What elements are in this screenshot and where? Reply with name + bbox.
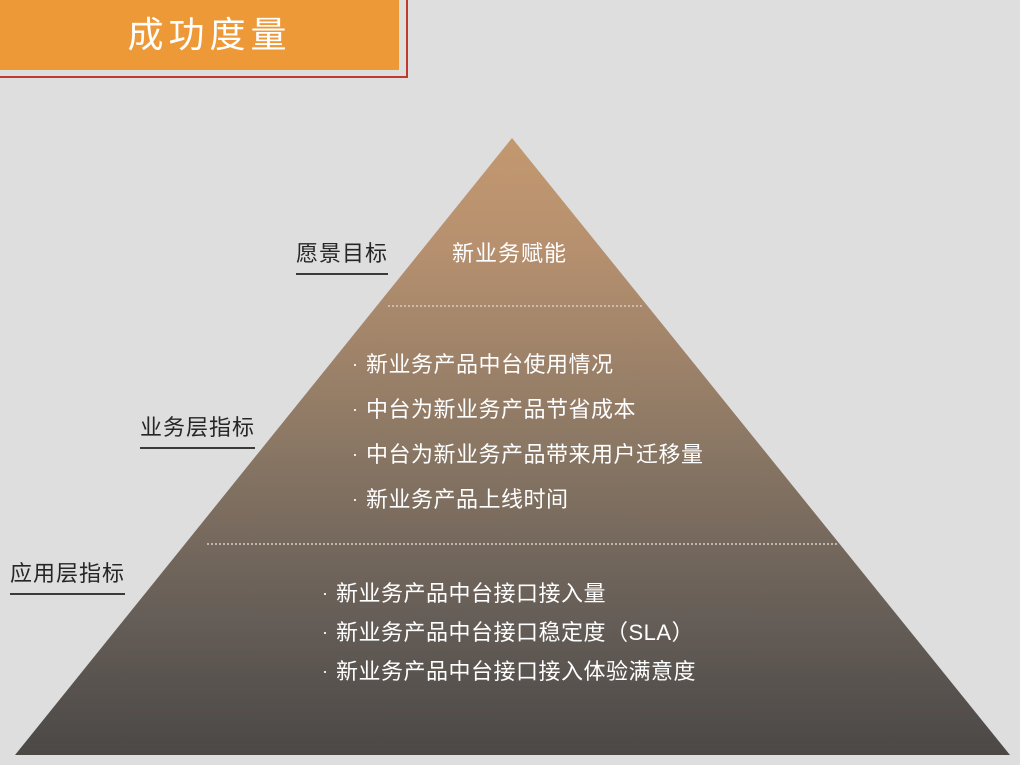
- tier-label-vision: 愿景目标: [296, 236, 388, 275]
- list-item-label: 中台为新业务产品带来用户迁移量: [366, 442, 704, 467]
- list-item-label: 新业务产品中台接口稳定度（SLA）: [336, 620, 694, 645]
- tier-label-application: 应用层指标: [10, 556, 125, 595]
- list-item: ·新业务产品中台接口接入量: [322, 574, 696, 613]
- list-item-label: 新业务产品中台使用情况: [366, 352, 614, 377]
- bullet-icon: ·: [322, 574, 336, 613]
- tier-label-business: 业务层指标: [140, 410, 255, 449]
- bullet-icon: ·: [352, 477, 366, 522]
- bullet-icon: ·: [352, 342, 366, 387]
- tier-business-list: ·新业务产品中台使用情况 ·中台为新业务产品节省成本 ·中台为新业务产品带来用户…: [352, 342, 704, 522]
- list-item: ·新业务产品上线时间: [352, 477, 704, 522]
- list-item: ·新业务产品中台使用情况: [352, 342, 704, 387]
- bullet-icon: ·: [352, 387, 366, 432]
- list-item-label: 新业务产品中台接口接入量: [336, 581, 606, 606]
- tier-divider-middle: [207, 543, 837, 545]
- list-item: ·中台为新业务产品节省成本: [352, 387, 704, 432]
- bullet-icon: ·: [352, 432, 366, 477]
- list-item: ·中台为新业务产品带来用户迁移量: [352, 432, 704, 477]
- list-item: ·新业务产品中台接口稳定度（SLA）: [322, 613, 696, 652]
- list-item: ·新业务产品中台接口接入体验满意度: [322, 652, 696, 691]
- tier-divider-top: [388, 305, 642, 307]
- bullet-icon: ·: [322, 613, 336, 652]
- tier-application-list: ·新业务产品中台接口接入量 ·新业务产品中台接口稳定度（SLA） ·新业务产品中…: [322, 574, 696, 691]
- list-item-label: 新业务产品上线时间: [366, 487, 569, 512]
- list-item-label: 新业务产品中台接口接入体验满意度: [336, 659, 696, 684]
- list-item-label: 中台为新业务产品节省成本: [366, 397, 636, 422]
- tier-vision-item: 新业务赋能: [452, 236, 567, 268]
- bullet-icon: ·: [322, 652, 336, 691]
